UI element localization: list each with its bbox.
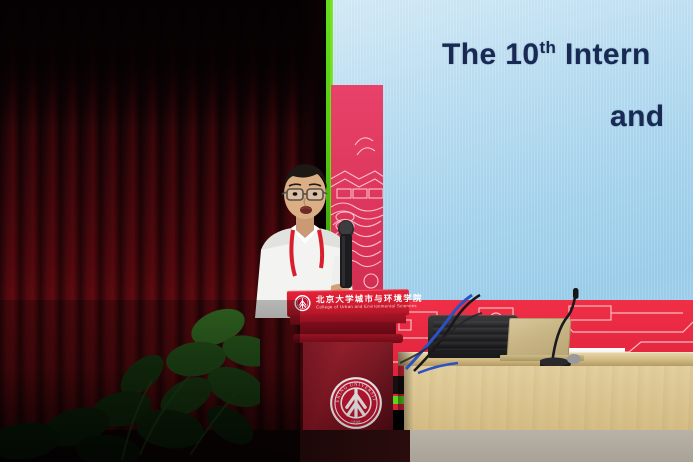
slide-title-prefix: The 10 [442,38,539,71]
handheld-microphone [333,218,361,296]
desk-cables [400,285,600,375]
pku-seal-small-icon [294,295,311,312]
black-cable [414,295,480,371]
curtain-top-shadow [0,0,340,130]
slide-title-line-1: The 10th Intern [442,38,651,72]
svg-text:PEKING UNIVERSITY: PEKING UNIVERSITY [329,376,377,403]
conference-photo-scene: The 10th Intern and [0,0,693,462]
blue-cable [406,295,472,369]
pku-seal-large-icon: PEKING UNIVERSITY 1898 [329,376,383,430]
slide-title-line-2: and [610,100,665,134]
seal-year-text: 1898 [351,421,361,425]
slide-title-suffix: Intern [556,38,650,71]
slide-title-ordinal: th [539,38,556,57]
seal-top-text: PEKING UNIVERSITY [329,376,377,403]
foreground-plants [0,305,260,462]
